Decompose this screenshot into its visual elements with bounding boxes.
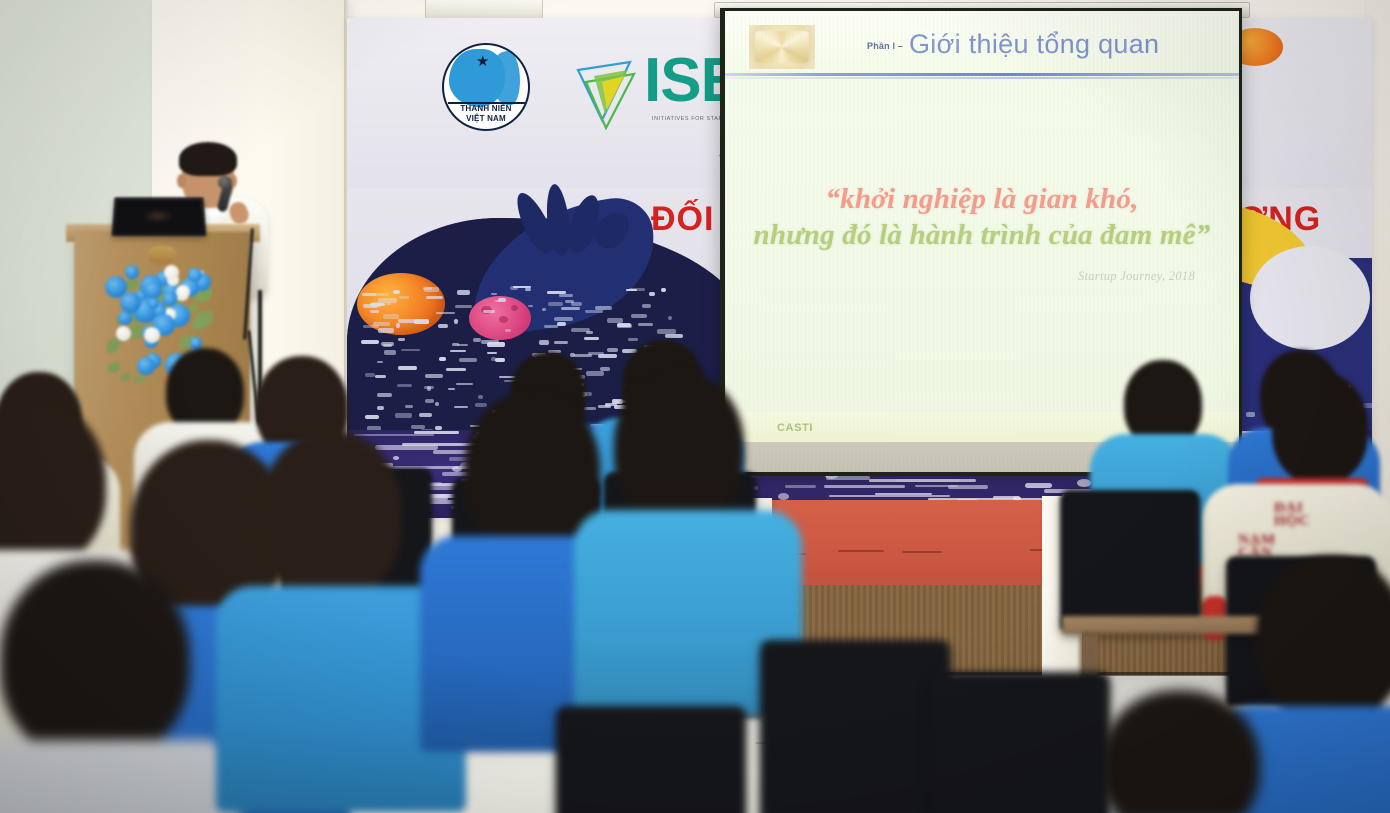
chair xyxy=(930,672,1110,813)
presenter-hair xyxy=(179,142,237,176)
youth-union-emblem-icon: ★ THANH NIÊN VIỆT NAM xyxy=(442,43,530,131)
white-moon-icon xyxy=(1250,246,1370,350)
youth-union-line2: VIỆT NAM xyxy=(444,114,528,124)
youth-union-line1: THANH NIÊN xyxy=(444,104,528,114)
star-icon: ★ xyxy=(476,54,489,69)
shirt-text-line-1: ĐẠI HỌC xyxy=(1274,502,1310,528)
seminar-photo-scene: ★ THANH NIÊN VIỆT NAM ISEV INITIATIVES F… xyxy=(0,0,1390,813)
chair xyxy=(556,706,746,813)
desk xyxy=(1062,616,1262,634)
isev-triangle-icon xyxy=(572,56,644,130)
orange-planet-icon xyxy=(357,273,445,335)
chair xyxy=(1060,490,1200,630)
laptop xyxy=(112,197,207,236)
chair xyxy=(760,640,950,813)
ceiling-vent-icon xyxy=(425,0,543,20)
pink-planet-icon xyxy=(469,296,531,340)
